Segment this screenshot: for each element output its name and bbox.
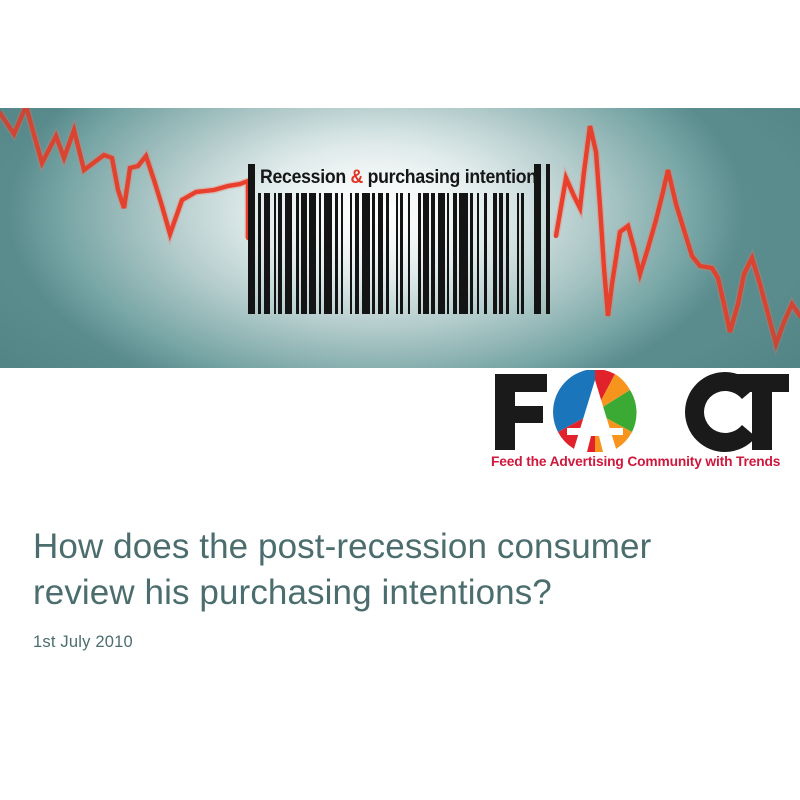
barcode-label-row: Recession & purchasing intention xyxy=(246,164,554,192)
barcode-bar xyxy=(324,193,333,314)
barcode-title-text: Recession & purchasing intention xyxy=(260,165,537,191)
logo-letter-f xyxy=(495,374,547,450)
barcode-bar xyxy=(301,193,307,314)
barcode-bar xyxy=(296,193,299,314)
barcode-bar xyxy=(355,193,359,314)
barcode-bar xyxy=(453,193,456,314)
barcode-bar xyxy=(447,193,449,314)
barcode-bar xyxy=(386,193,389,314)
barcode-bar xyxy=(408,193,410,314)
barcode-bar xyxy=(274,193,276,314)
barcode-bar xyxy=(506,193,509,314)
barcode-bar xyxy=(521,193,524,314)
barcode-bar xyxy=(418,193,421,314)
logo-letter-a-emblem xyxy=(547,370,647,454)
barcode-bar xyxy=(499,193,503,314)
barcode-bar xyxy=(378,193,384,314)
barcode-bar xyxy=(285,193,293,314)
barcode-bar xyxy=(517,193,519,314)
barcode-bar xyxy=(400,193,403,314)
barcode-bar xyxy=(341,193,343,314)
barcode-bar xyxy=(396,193,398,314)
recession-banner-image: Recession & purchasing intention xyxy=(0,108,800,368)
barcode-bar xyxy=(335,193,338,314)
barcode-bar xyxy=(459,193,468,314)
barcode-bar xyxy=(350,193,352,314)
page-title-line-1: How does the post-recession consumer xyxy=(33,524,763,570)
title-slide: Recession & purchasing intention xyxy=(0,0,800,800)
barcode-bar xyxy=(484,193,486,314)
fact-logo: Feed the Advertising Community with Tren… xyxy=(489,370,789,480)
barcode-bars xyxy=(258,193,530,314)
barcode-bar xyxy=(309,193,316,314)
barcode-bar xyxy=(423,193,429,314)
headline-block: How does the post-recession consumer rev… xyxy=(33,524,763,652)
barcode-title-suffix: purchasing intention xyxy=(363,167,537,188)
barcode-bar xyxy=(477,193,479,314)
page-title-line-2: review his purchasing intentions? xyxy=(33,570,763,616)
barcode-graphic: Recession & purchasing intention xyxy=(246,164,554,314)
barcode-title-prefix: Recession xyxy=(260,167,351,188)
barcode-bar xyxy=(431,193,434,314)
page-title: How does the post-recession consumer rev… xyxy=(33,524,763,616)
barcode-bar xyxy=(258,193,261,314)
barcode-bar xyxy=(493,193,496,314)
barcode-title-ampersand: & xyxy=(351,167,363,188)
barcode-bar xyxy=(319,193,321,314)
fact-tagline: Feed the Advertising Community with Tren… xyxy=(491,454,780,470)
barcode-bar xyxy=(470,193,473,314)
barcode-bar xyxy=(264,193,271,314)
fact-wordmark xyxy=(489,370,789,454)
barcode-bar xyxy=(438,193,445,314)
barcode-bar xyxy=(372,193,374,314)
barcode-bar xyxy=(362,193,370,314)
presentation-date: 1st July 2010 xyxy=(33,633,763,652)
barcode-bar xyxy=(278,193,282,314)
